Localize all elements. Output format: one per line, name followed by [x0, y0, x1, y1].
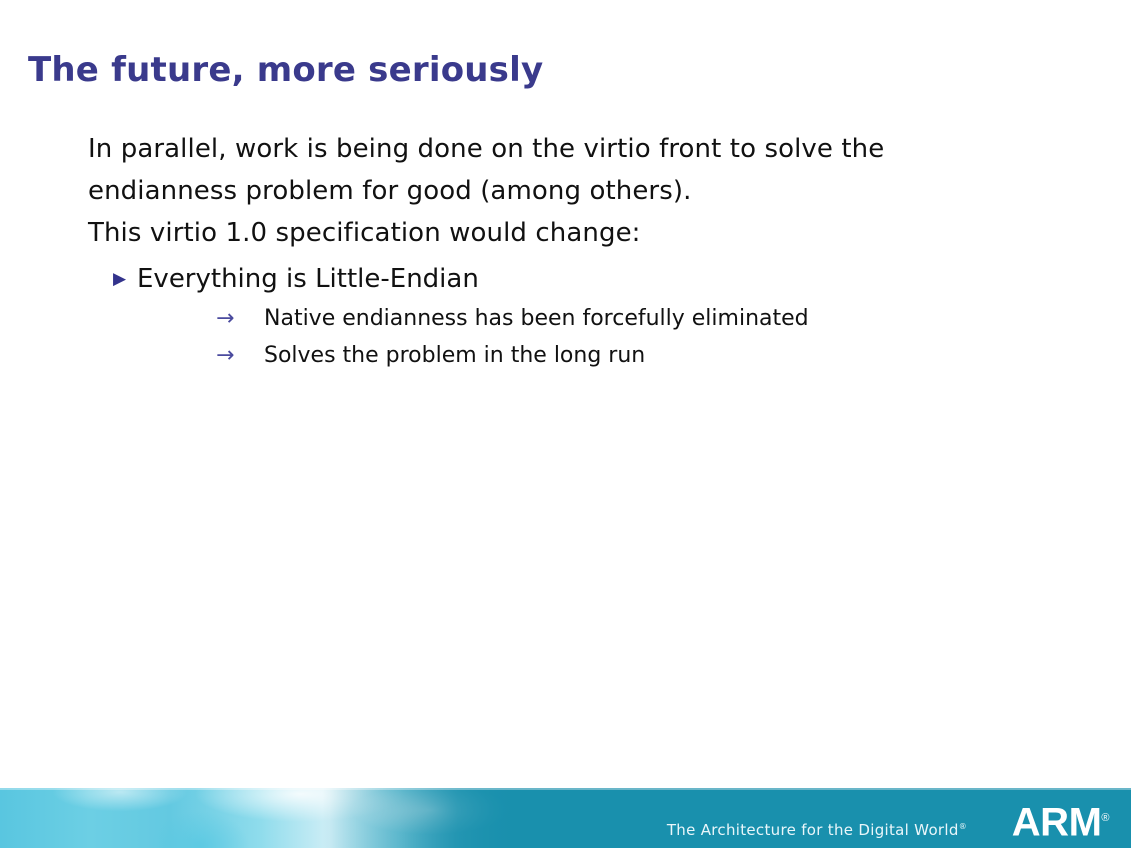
registered-mark-icon: ® — [1101, 812, 1109, 824]
list-item: → Native endianness has been forcefully … — [137, 300, 1078, 337]
slide-canvas: The future, more seriously In parallel, … — [0, 0, 1131, 848]
slide-body: In parallel, work is being done on the v… — [88, 128, 1078, 374]
arm-logo-text: ARM — [1012, 800, 1102, 844]
cloud-graphic — [0, 788, 520, 848]
list-item-label: Everything is Little-Endian — [137, 264, 479, 294]
sub-bullet-list: → Native endianness has been forcefully … — [137, 300, 1078, 374]
triangle-bullet-icon: ▶ — [113, 258, 126, 300]
footer-tagline: The Architecture for the Digital World® — [667, 818, 967, 839]
body-paragraph-line: In parallel, work is being done on the v… — [88, 128, 1078, 170]
body-paragraph-line: This virtio 1.0 specification would chan… — [88, 212, 1078, 254]
registered-mark-icon: ® — [959, 822, 967, 831]
body-paragraph-line: endianness problem for good (among other… — [88, 170, 1078, 212]
arrow-right-icon: → — [216, 337, 234, 374]
footer-tagline-text: The Architecture for the Digital World — [667, 821, 959, 839]
footer-divider — [0, 788, 1131, 790]
list-item: → Solves the problem in the long run — [137, 337, 1078, 374]
bullet-list: ▶ Everything is Little-Endian → Native e… — [88, 258, 1078, 374]
list-item: ▶ Everything is Little-Endian → Native e… — [88, 258, 1078, 374]
arrow-right-icon: → — [216, 300, 234, 337]
slide-footer: The Architecture for the Digital World® … — [0, 788, 1131, 848]
list-item-label: Native endianness has been forcefully el… — [264, 306, 809, 331]
page-title: The future, more seriously — [28, 49, 543, 91]
list-item-label: Solves the problem in the long run — [264, 343, 645, 368]
arm-logo: ARM® — [1012, 796, 1109, 844]
